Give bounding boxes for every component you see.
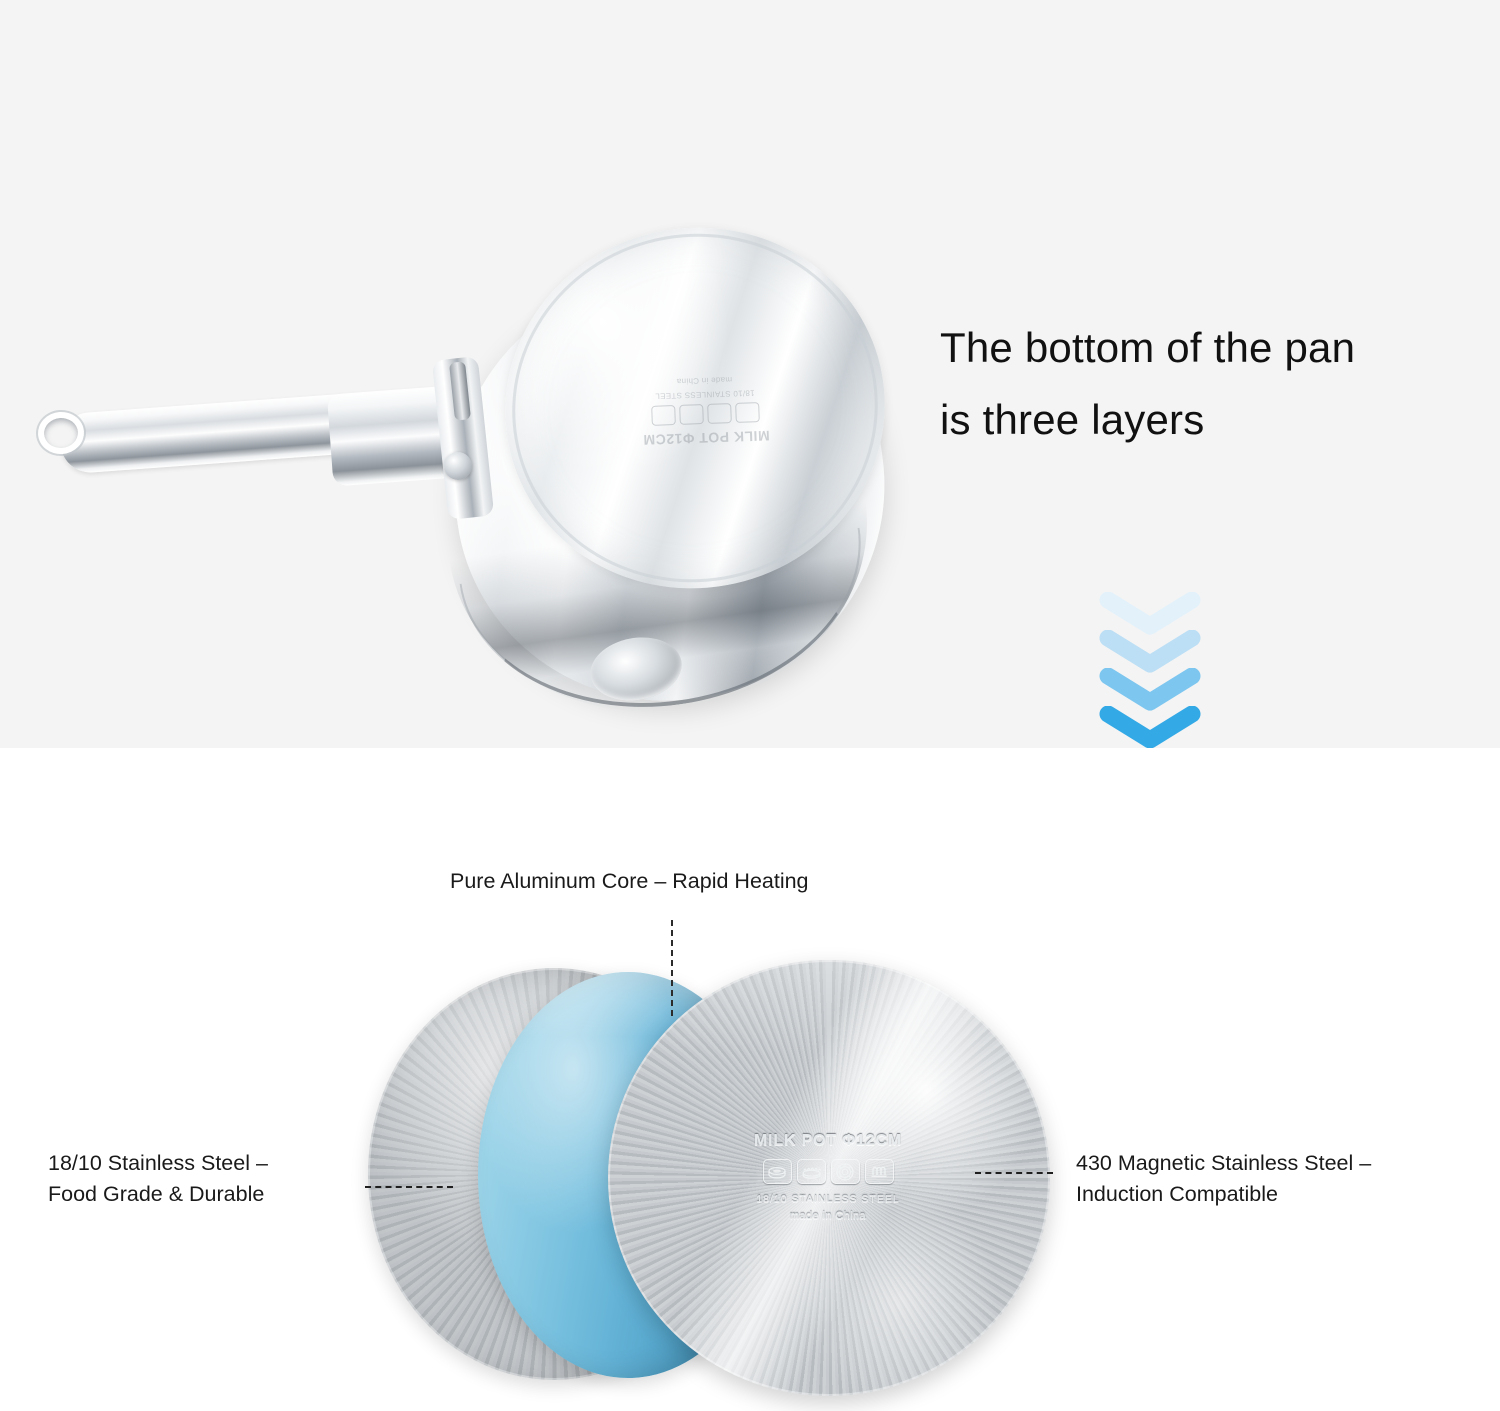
leader-line-aluminum-core xyxy=(671,920,673,1016)
three-layer-disc-diagram: MILK POT Φ12CM xyxy=(360,960,1050,1400)
bottom-panel: MILK POT Φ12CM xyxy=(0,748,1500,1411)
leader-line-1810-steel xyxy=(365,1186,453,1188)
layer-disc-outer-edge xyxy=(608,960,1050,1396)
headline-line-1: The bottom of the pan xyxy=(940,312,1460,384)
callout-aluminum-core: Pure Aluminum Core – Rapid Heating xyxy=(450,866,809,897)
gas-flame-icon xyxy=(707,403,732,424)
halogen-radiant-icon xyxy=(651,405,676,426)
handle-rivet xyxy=(444,452,472,480)
callout-1810-stainless-steel: 18/10 Stainless Steel – Food Grade & Dur… xyxy=(48,1148,268,1209)
callout-1810-line-2: Food Grade & Durable xyxy=(48,1179,268,1210)
chevron-down-icon-4 xyxy=(1098,706,1202,750)
electric-hotplate-icon xyxy=(735,402,760,423)
callout-430-line-2: Induction Compatible xyxy=(1076,1179,1371,1210)
headline-line-2: is three layers xyxy=(940,384,1460,456)
callout-1810-line-1: 18/10 Stainless Steel – xyxy=(48,1148,268,1179)
engraving-cooktop-icons xyxy=(625,401,786,427)
top-panel: MILK POT Φ12CM 18/10 STAINLESS STEEL mad… xyxy=(0,0,1500,748)
pot-bottom-engraving: MILK POT Φ12CM 18/10 STAINLESS STEEL mad… xyxy=(621,293,786,448)
pan-product-photo: MILK POT Φ12CM 18/10 STAINLESS STEEL mad… xyxy=(0,100,950,645)
callout-aluminum-core-line-1: Pure Aluminum Core – Rapid Heating xyxy=(450,866,809,897)
induction-coil-icon xyxy=(679,404,704,425)
engraving-origin: made in China xyxy=(624,373,784,388)
callout-430-magnetic-steel: 430 Magnetic Stainless Steel – Induction… xyxy=(1076,1148,1371,1209)
callout-430-line-1: 430 Magnetic Stainless Steel – xyxy=(1076,1148,1371,1179)
page-headline: The bottom of the pan is three layers xyxy=(940,312,1460,456)
leader-line-430-steel xyxy=(975,1172,1053,1174)
engraving-material: 18/10 STAINLESS STEEL xyxy=(625,387,785,402)
